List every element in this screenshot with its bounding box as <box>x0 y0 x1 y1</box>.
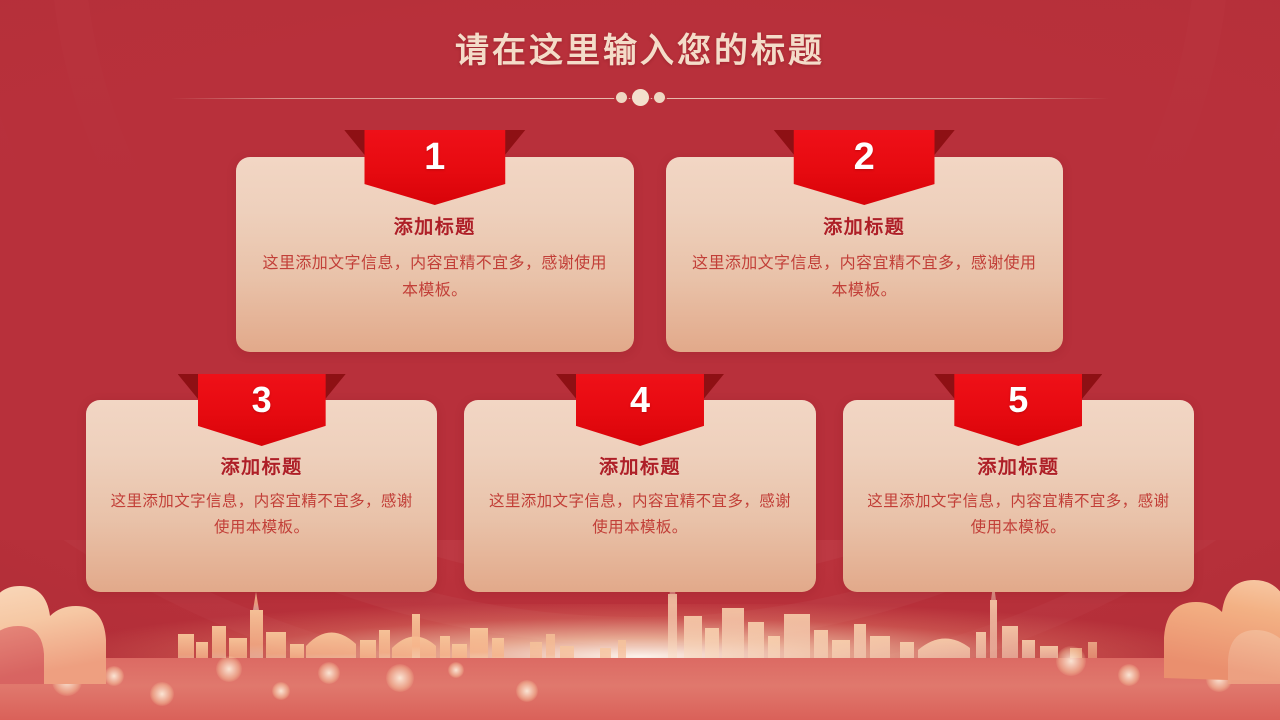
card-text: 这里添加文字信息，内容宜精不宜多，感谢使用本模板。 <box>482 489 797 540</box>
number-ribbon-3: 3 <box>198 374 326 446</box>
card-text: 这里添加文字信息，内容宜精不宜多，感谢使用本模板。 <box>258 251 612 304</box>
slide-background <box>0 0 1280 720</box>
number-ribbon-5: 5 <box>954 374 1082 446</box>
card-number: 2 <box>854 130 875 176</box>
number-ribbon-1: 1 <box>364 130 505 205</box>
card-row-bottom: 3 添加标题 这里添加文字信息，内容宜精不宜多，感谢使用本模板。 4 添加标题 … <box>86 400 1194 592</box>
card-title: 添加标题 <box>104 452 419 479</box>
slide-header: 请在这里输入您的标题 <box>0 30 1280 107</box>
card-title: 添加标题 <box>258 212 612 239</box>
ribbon-banner: 5 <box>954 374 1082 446</box>
divider-dots <box>607 89 674 106</box>
ribbon-banner: 2 <box>794 130 935 205</box>
page-title: 请在这里输入您的标题 <box>0 30 1280 73</box>
card-title: 添加标题 <box>861 452 1176 479</box>
card-title: 添加标题 <box>688 212 1042 239</box>
ribbon-banner: 3 <box>198 374 326 446</box>
number-ribbon-4: 4 <box>576 374 704 446</box>
title-divider <box>171 89 1109 107</box>
content-card-1[interactable]: 1 添加标题 这里添加文字信息，内容宜精不宜多，感谢使用本模板。 <box>236 157 634 352</box>
card-number: 3 <box>252 374 272 418</box>
content-card-5[interactable]: 5 添加标题 这里添加文字信息，内容宜精不宜多，感谢使用本模板。 <box>843 400 1194 592</box>
card-number: 4 <box>630 374 650 418</box>
card-number: 5 <box>1008 374 1028 418</box>
card-row-top: 1 添加标题 这里添加文字信息，内容宜精不宜多，感谢使用本模板。 2 添加标题 … <box>236 157 1063 352</box>
content-card-2[interactable]: 2 添加标题 这里添加文字信息，内容宜精不宜多，感谢使用本模板。 <box>666 157 1064 352</box>
ribbon-banner: 1 <box>364 130 505 205</box>
divider-dot-left-icon <box>616 92 627 103</box>
card-text: 这里添加文字信息，内容宜精不宜多，感谢使用本模板。 <box>861 489 1176 540</box>
content-card-4[interactable]: 4 添加标题 这里添加文字信息，内容宜精不宜多，感谢使用本模板。 <box>464 400 815 592</box>
divider-dot-right-icon <box>654 92 665 103</box>
card-text: 这里添加文字信息，内容宜精不宜多，感谢使用本模板。 <box>104 489 419 540</box>
ribbon-banner: 4 <box>576 374 704 446</box>
content-card-3[interactable]: 3 添加标题 这里添加文字信息，内容宜精不宜多，感谢使用本模板。 <box>86 400 437 592</box>
number-ribbon-2: 2 <box>794 130 935 205</box>
card-title: 添加标题 <box>482 452 797 479</box>
card-text: 这里添加文字信息，内容宜精不宜多，感谢使用本模板。 <box>688 251 1042 304</box>
slide-canvas: 请在这里输入您的标题 1 添加标题 这里添加文字信息，内容宜精不宜多，感谢使用本… <box>0 0 1280 720</box>
card-number: 1 <box>424 130 445 176</box>
divider-dot-center-icon <box>632 89 649 106</box>
